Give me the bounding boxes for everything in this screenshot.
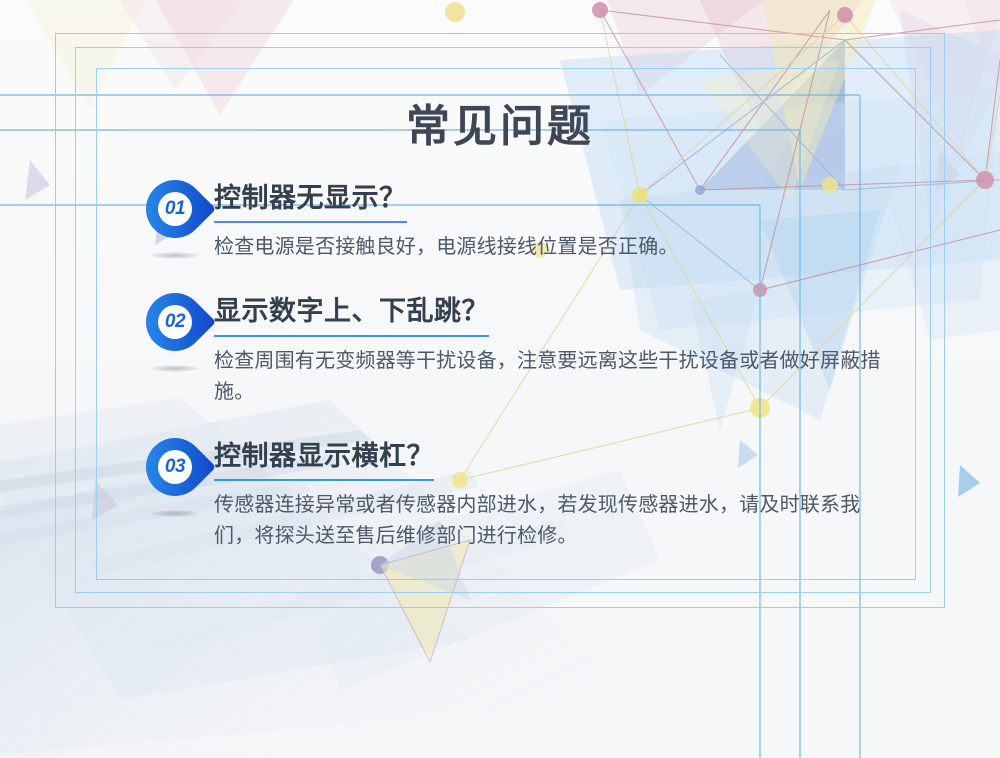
page-title: 常见问题 — [0, 90, 1000, 154]
faq-list: 01 控制器无显示？ 检查电源是否接触良好，电源线接线位置是否正确。 02 — [140, 180, 900, 582]
faq-answer: 传感器连接异常或者传感器内部进水，若发现传感器进水，请及时联系我们，将探头送至售… — [214, 490, 900, 552]
faq-body: 控制器显示横杠？ 传感器连接异常或者传感器内部进水，若发现传感器进水，请及时联系… — [214, 438, 900, 552]
faq-question: 控制器无显示？ — [214, 182, 407, 223]
faq-body: 显示数字上、下乱跳？ 检查周围有无变频器等干扰设备，注意要远离这些干扰设备或者做… — [214, 293, 900, 407]
faq-item: 01 控制器无显示？ 检查电源是否接触良好，电源线接线位置是否正确。 — [140, 180, 900, 263]
faq-question: 控制器显示横杠？ — [214, 440, 434, 481]
faq-number: 01 — [146, 180, 204, 238]
faq-answer: 检查电源是否接触良好，电源线接线位置是否正确。 — [214, 232, 900, 263]
content-area: 常见问题 01 控制器无显示？ 检查电源是否接触良好，电源线接线位置是否正确。 — [0, 0, 1000, 758]
faq-question: 显示数字上、下乱跳？ — [214, 295, 489, 336]
faq-marker: 03 — [140, 438, 214, 520]
faq-answer: 检查周围有无变频器等干扰设备，注意要远离这些干扰设备或者做好屏蔽措施。 — [214, 346, 900, 408]
map-pin-shadow — [150, 252, 200, 259]
faq-item: 02 显示数字上、下乱跳？ 检查周围有无变频器等干扰设备，注意要远离这些干扰设备… — [140, 293, 900, 407]
faq-number: 03 — [146, 438, 204, 496]
faq-body: 控制器无显示？ 检查电源是否接触良好，电源线接线位置是否正确。 — [214, 180, 900, 263]
map-pin-shadow — [150, 510, 200, 517]
faq-marker: 02 — [140, 293, 214, 375]
faq-marker: 01 — [140, 180, 214, 262]
faq-page: 常见问题 01 控制器无显示？ 检查电源是否接触良好，电源线接线位置是否正确。 — [0, 0, 1000, 758]
faq-item: 03 控制器显示横杠？ 传感器连接异常或者传感器内部进水，若发现传感器进水，请及… — [140, 438, 900, 552]
map-pin-shadow — [150, 365, 200, 372]
faq-number: 02 — [146, 293, 204, 351]
